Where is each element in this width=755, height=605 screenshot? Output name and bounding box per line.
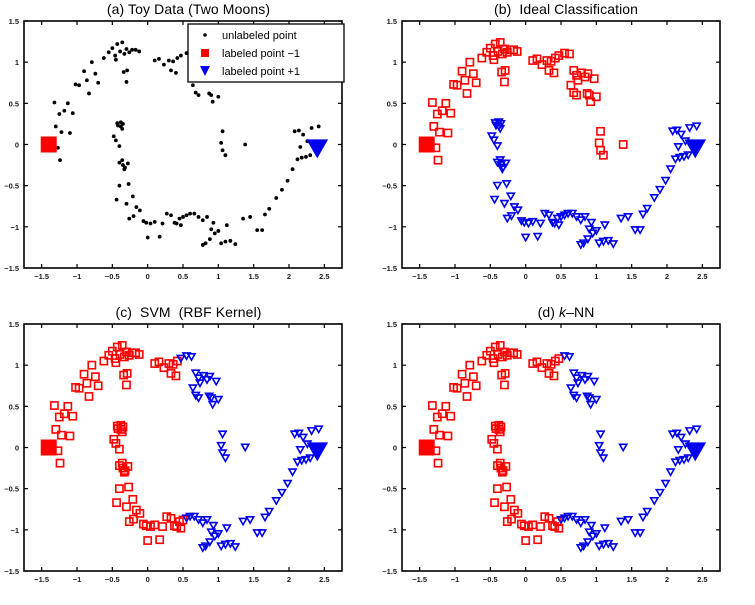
unlabeled-point-marker xyxy=(197,93,201,97)
unlabeled-point-marker xyxy=(126,162,130,166)
panel-d: (d) k–NN−1.5−1−0.500.511.522.5−1.5−1−0.5… xyxy=(378,303,755,605)
x-tick-label: 1 xyxy=(594,575,598,584)
unlabeled-point-marker xyxy=(118,144,122,148)
unlabeled-point-marker xyxy=(125,80,129,84)
class-minus1-square-marker xyxy=(522,536,529,543)
unlabeled-point-marker xyxy=(118,50,122,54)
unlabeled-point-marker xyxy=(228,239,232,243)
x-tick-label: −0.5 xyxy=(105,272,120,281)
unlabeled-point-marker xyxy=(158,235,162,239)
data-points-group xyxy=(428,341,699,550)
class-plus1-triangle-marker xyxy=(507,193,514,199)
class-minus1-square-marker xyxy=(428,99,435,106)
class-plus1-triangle-marker xyxy=(686,427,693,433)
unlabeled-point-marker xyxy=(221,148,225,152)
class-plus1-triangle-marker xyxy=(601,525,608,531)
unlabeled-point-marker xyxy=(304,155,308,159)
unlabeled-point-marker xyxy=(209,93,213,97)
class-plus1-triangle-marker xyxy=(522,234,529,240)
class-minus1-square-marker xyxy=(500,503,507,510)
class-minus1-square-marker xyxy=(490,499,497,506)
x-tick-label: 1.5 xyxy=(248,575,258,584)
class-minus1-square-marker xyxy=(463,90,470,97)
unlabeled-point-marker xyxy=(149,222,153,226)
class-plus1-triangle-marker xyxy=(259,529,266,535)
class-minus1-square-marker xyxy=(545,67,552,74)
x-tick-label: −1.5 xyxy=(34,272,49,281)
unlabeled-point-marker xyxy=(263,213,267,217)
unlabeled-point-marker xyxy=(71,111,75,115)
x-tick-label: 1 xyxy=(216,575,220,584)
class-minus1-square-marker xyxy=(95,382,102,389)
panel-a: (a) Toy Data (Two Moons)−1.5−1−0.500.511… xyxy=(0,0,377,302)
class-plus1-triangle-marker xyxy=(596,431,603,437)
class-plus1-triangle-marker xyxy=(308,427,315,433)
labeled-points-group xyxy=(419,137,705,157)
class-plus1-triangle-marker xyxy=(213,378,220,384)
unlabeled-point-marker xyxy=(317,124,321,128)
unlabeled-point-marker xyxy=(87,92,91,96)
unlabeled-point-marker xyxy=(267,207,271,211)
unlabeled-point-marker xyxy=(58,158,62,162)
unlabeled-point-marker xyxy=(219,241,223,245)
class-plus1-triangle-marker xyxy=(536,220,543,226)
unlabeled-point-marker xyxy=(85,78,89,82)
legend-entry-label: labeled point −1 xyxy=(222,48,300,60)
class-plus1-triangle-marker xyxy=(223,525,230,531)
class-plus1-triangle-marker xyxy=(300,434,307,440)
unlabeled-point-marker xyxy=(169,69,173,73)
class-plus1-triangle-marker xyxy=(624,516,631,522)
x-tick-label: 0 xyxy=(146,272,150,281)
data-points-group xyxy=(428,39,699,248)
unlabeled-point-marker xyxy=(146,236,150,240)
class-minus1-square-marker xyxy=(172,372,179,379)
class-plus1-triangle-marker xyxy=(677,434,684,440)
y-tick-label: −1 xyxy=(10,525,19,534)
unlabeled-point-marker xyxy=(243,143,247,147)
y-tick-label: 0 xyxy=(392,141,396,150)
class-plus1-triangle-marker xyxy=(666,166,673,172)
x-tick-label: −1 xyxy=(450,575,459,584)
class-minus1-square-marker xyxy=(434,157,441,164)
class-minus1-square-marker xyxy=(493,485,500,492)
class-plus1-triangle-marker xyxy=(315,426,322,432)
y-tick-label: 0.5 xyxy=(9,99,19,108)
unlabeled-point-marker xyxy=(77,83,81,87)
unlabeled-point-marker xyxy=(216,95,220,99)
unlabeled-point-marker xyxy=(181,215,185,219)
x-tick-label: 1 xyxy=(216,272,220,281)
unlabeled-point-marker xyxy=(114,58,118,62)
class-plus1-triangle-marker xyxy=(650,195,657,201)
unlabeled-point-marker xyxy=(93,72,97,76)
class-plus1-triangle-marker xyxy=(650,497,657,503)
y-tick-label: −1.5 xyxy=(4,264,19,273)
y-tick-label: 1.5 xyxy=(9,17,19,26)
y-tick-label: 1 xyxy=(392,58,396,67)
x-tick-label: 0 xyxy=(146,575,150,584)
class-minus1-square-marker xyxy=(466,59,473,66)
class-plus1-triangle-marker xyxy=(617,215,624,221)
class-minus1-square-marker xyxy=(469,373,476,380)
class-plus1-triangle-marker xyxy=(239,518,246,524)
labeled-points-group xyxy=(41,440,327,460)
class-minus1-square-marker xyxy=(92,373,99,380)
x-tick-label: 2.5 xyxy=(319,575,329,584)
legend-entry-label: labeled point +1 xyxy=(222,66,300,78)
class-plus1-triangle-marker xyxy=(232,543,239,549)
class-minus1-square-marker xyxy=(129,495,136,502)
class-minus1-square-marker xyxy=(116,485,123,492)
unlabeled-point-marker xyxy=(134,205,138,209)
unlabeled-point-marker xyxy=(233,242,237,246)
class-plus1-triangle-marker xyxy=(545,212,552,218)
x-tick-label: 0 xyxy=(523,272,527,281)
unlabeled-point-marker xyxy=(174,71,178,75)
class-plus1-triangle-marker xyxy=(493,182,500,188)
unlabeled-point-marker xyxy=(96,81,100,85)
class-minus1-square-marker xyxy=(472,382,479,389)
class-minus1-square-marker xyxy=(428,401,435,408)
class-minus1-square-marker xyxy=(545,369,552,376)
legend: unlabeled pointlabeled point −1labeled p… xyxy=(188,24,344,82)
panel-b: (b) Ideal Classification−1.5−1−0.500.511… xyxy=(378,0,755,302)
class-minus1-square-marker xyxy=(444,432,451,439)
unlabeled-point-marker xyxy=(125,47,129,51)
class-plus1-triangle-marker xyxy=(624,214,631,220)
unlabeled-point-marker xyxy=(121,122,125,126)
class-minus1-square-marker xyxy=(461,379,468,386)
x-tick-label: 1.5 xyxy=(626,272,636,281)
class-minus1-square-marker xyxy=(463,392,470,399)
class-plus1-triangle-marker xyxy=(587,220,594,226)
x-tick-label: 2.5 xyxy=(319,272,329,281)
class-plus1-triangle-marker xyxy=(572,394,579,400)
class-plus1-triangle-marker xyxy=(619,444,626,450)
legend-entry-label: unlabeled point xyxy=(222,30,297,42)
class-minus1-square-marker xyxy=(64,402,71,409)
y-tick-label: 0.5 xyxy=(386,402,396,411)
unlabeled-point-marker xyxy=(54,124,58,128)
class-minus1-square-marker xyxy=(144,536,151,543)
class-plus1-triangle-marker xyxy=(555,222,562,228)
x-tick-label: −0.5 xyxy=(105,575,120,584)
class-plus1-triangle-marker xyxy=(218,442,225,448)
unlabeled-point-marker xyxy=(144,221,148,225)
legend-dot-icon xyxy=(203,33,207,37)
x-tick-label: 1.5 xyxy=(248,272,258,281)
unlabeled-point-marker xyxy=(241,217,245,221)
x-tick-label: 1.5 xyxy=(626,575,636,584)
y-tick-label: −0.5 xyxy=(4,484,19,493)
class-plus1-triangle-marker xyxy=(636,529,643,535)
unlabeled-point-marker xyxy=(296,157,300,161)
y-tick-label: −1.5 xyxy=(382,567,397,576)
class-plus1-triangle-marker xyxy=(567,385,574,391)
class-plus1-triangle-marker xyxy=(219,431,226,437)
unlabeled-point-marker xyxy=(260,228,264,232)
unlabeled-point-marker xyxy=(60,130,64,134)
class-minus1-square-marker xyxy=(434,459,441,466)
y-tick-label: −1 xyxy=(10,223,19,232)
class-minus1-square-marker xyxy=(500,78,507,85)
class-plus1-triangle-marker xyxy=(617,518,624,524)
unlabeled-point-marker xyxy=(224,240,228,244)
class-plus1-triangle-marker xyxy=(693,123,700,129)
x-tick-label: −1.5 xyxy=(34,575,49,584)
unlabeled-point-marker xyxy=(205,215,209,219)
class-minus1-square-marker xyxy=(56,459,63,466)
unlabeled-point-marker xyxy=(113,54,117,58)
class-plus1-triangle-marker xyxy=(590,378,597,384)
unlabeled-point-marker xyxy=(131,194,135,198)
class-minus1-square-marker xyxy=(550,69,557,76)
x-tick-label: 0 xyxy=(523,575,527,584)
y-tick-label: −1.5 xyxy=(4,567,19,576)
class-minus1-square-marker xyxy=(156,536,163,543)
labeled-point-minus1-marker xyxy=(41,137,56,152)
class-plus1-triangle-marker xyxy=(587,522,594,528)
class-minus1-square-marker xyxy=(536,522,543,529)
class-plus1-triangle-marker xyxy=(289,469,296,475)
unlabeled-point-marker xyxy=(115,198,119,202)
class-minus1-square-marker xyxy=(619,141,626,148)
unlabeled-point-marker xyxy=(122,52,126,56)
x-tick-label: −1.5 xyxy=(412,272,427,281)
class-plus1-triangle-marker xyxy=(278,489,285,495)
y-tick-label: 0.5 xyxy=(386,99,396,108)
x-tick-label: 2 xyxy=(287,272,291,281)
class-minus1-square-marker xyxy=(66,432,73,439)
panel-d-plot: −1.5−1−0.500.511.522.5−1.5−1−0.500.511.5 xyxy=(378,303,755,605)
unlabeled-point-marker xyxy=(192,212,196,216)
class-minus1-square-marker xyxy=(472,79,479,86)
unlabeled-point-marker xyxy=(132,214,136,218)
class-plus1-triangle-marker xyxy=(188,353,195,359)
unlabeled-point-marker xyxy=(298,145,302,149)
unlabeled-point-marker xyxy=(211,221,215,225)
class-plus1-triangle-marker xyxy=(609,241,616,247)
unlabeled-point-marker xyxy=(122,70,126,74)
labeled-point-plus1-marker xyxy=(307,442,327,460)
labeled-point-plus1-marker xyxy=(685,442,705,460)
class-minus1-square-marker xyxy=(80,370,87,377)
unlabeled-point-marker xyxy=(248,215,252,219)
unlabeled-point-marker xyxy=(179,223,183,227)
unlabeled-point-marker xyxy=(297,129,301,133)
unlabeled-point-marker xyxy=(175,222,179,226)
unlabeled-point-marker xyxy=(171,59,175,63)
unlabeled-point-marker xyxy=(274,196,278,200)
class-minus1-square-marker xyxy=(167,369,174,376)
unlabeled-point-marker xyxy=(308,153,312,157)
class-plus1-triangle-marker xyxy=(677,131,684,137)
unlabeled-point-marker xyxy=(300,156,304,160)
class-plus1-triangle-marker xyxy=(490,196,497,202)
class-minus1-square-marker xyxy=(469,70,476,77)
class-plus1-triangle-marker xyxy=(686,125,693,131)
class-plus1-triangle-marker xyxy=(656,187,663,193)
class-plus1-triangle-marker xyxy=(502,181,509,187)
unlabeled-point-marker xyxy=(125,69,129,73)
class-minus1-square-marker xyxy=(159,522,166,529)
x-tick-label: 2 xyxy=(287,575,291,584)
y-tick-label: 0 xyxy=(392,443,396,452)
plot-frame xyxy=(402,324,720,571)
unlabeled-point-marker xyxy=(90,60,94,64)
class-minus1-square-marker xyxy=(502,483,509,490)
class-plus1-triangle-marker xyxy=(661,480,668,486)
class-plus1-triangle-marker xyxy=(261,514,268,520)
unlabeled-point-marker xyxy=(107,50,111,54)
unlabeled-point-marker xyxy=(115,121,119,125)
class-minus1-square-marker xyxy=(466,361,473,368)
class-minus1-square-marker xyxy=(500,381,507,388)
unlabeled-point-marker xyxy=(110,46,114,50)
class-minus1-square-marker xyxy=(444,129,451,136)
unlabeled-point-marker xyxy=(112,134,116,138)
unlabeled-point-marker xyxy=(102,56,106,60)
class-minus1-square-marker xyxy=(85,392,92,399)
y-tick-label: −0.5 xyxy=(382,182,397,191)
unlabeled-point-marker xyxy=(138,208,142,212)
unlabeled-point-marker xyxy=(213,232,217,236)
x-tick-label: −1 xyxy=(73,272,82,281)
panel-a-plot: −1.5−1−0.500.511.522.5−1.5−1−0.500.511.5… xyxy=(0,0,377,302)
class-minus1-square-marker xyxy=(507,495,514,502)
unlabeled-point-marker xyxy=(127,182,131,186)
class-minus1-square-marker xyxy=(123,381,130,388)
y-tick-label: 0 xyxy=(15,141,19,150)
unlabeled-point-marker xyxy=(216,229,220,233)
unlabeled-point-marker xyxy=(125,202,129,206)
plot-frame xyxy=(24,324,342,571)
class-plus1-triangle-marker xyxy=(195,394,202,400)
class-minus1-square-marker xyxy=(458,68,465,75)
class-plus1-triangle-marker xyxy=(222,455,229,461)
unlabeled-point-marker xyxy=(255,228,259,232)
x-tick-label: −1.5 xyxy=(412,575,427,584)
unlabeled-point-marker xyxy=(62,109,66,113)
class-minus1-square-marker xyxy=(534,536,541,543)
x-tick-label: −1 xyxy=(73,575,82,584)
class-plus1-triangle-marker xyxy=(587,401,594,407)
y-tick-label: −1 xyxy=(388,223,397,232)
y-tick-label: −0.5 xyxy=(4,182,19,191)
class-minus1-square-marker xyxy=(567,82,574,89)
labeled-point-minus1-marker xyxy=(419,137,434,152)
x-tick-label: 0.5 xyxy=(178,272,188,281)
unlabeled-point-marker xyxy=(118,184,122,188)
unlabeled-point-marker xyxy=(165,212,169,216)
class-plus1-triangle-marker xyxy=(595,442,602,448)
y-tick-label: 0.5 xyxy=(9,402,19,411)
class-minus1-square-marker xyxy=(51,401,58,408)
x-tick-label: 2.5 xyxy=(697,575,707,584)
unlabeled-point-marker xyxy=(57,112,61,116)
class-plus1-triangle-marker xyxy=(209,401,216,407)
class-plus1-triangle-marker xyxy=(488,133,495,139)
unlabeled-point-marker xyxy=(137,50,141,54)
y-tick-label: −0.5 xyxy=(382,484,397,493)
unlabeled-point-marker xyxy=(134,48,138,52)
x-tick-label: 2 xyxy=(664,272,668,281)
unlabeled-point-marker xyxy=(291,167,295,171)
class-minus1-square-marker xyxy=(83,379,90,386)
class-plus1-triangle-marker xyxy=(666,469,673,475)
class-plus1-triangle-marker xyxy=(693,426,700,432)
class-plus1-triangle-marker xyxy=(242,444,249,450)
unlabeled-point-marker xyxy=(82,69,86,73)
y-tick-label: 1.5 xyxy=(386,17,396,26)
unlabeled-point-marker xyxy=(115,42,119,46)
class-plus1-triangle-marker xyxy=(534,234,541,240)
x-tick-label: 2.5 xyxy=(697,272,707,281)
panel-b-plot: −1.5−1−0.500.511.522.5−1.5−1−0.500.511.5 xyxy=(378,0,755,302)
labeled-point-plus1-marker xyxy=(685,140,705,158)
unlabeled-point-marker xyxy=(201,218,205,222)
unlabeled-point-marker xyxy=(204,241,208,245)
x-tick-label: 1 xyxy=(594,272,598,281)
x-tick-label: −0.5 xyxy=(482,272,497,281)
x-tick-label: 0.5 xyxy=(555,575,565,584)
class-minus1-square-marker xyxy=(442,402,449,409)
unlabeled-point-marker xyxy=(301,133,305,137)
class-plus1-triangle-marker xyxy=(500,201,507,207)
x-tick-label: −0.5 xyxy=(482,575,497,584)
unlabeled-point-marker xyxy=(225,223,229,227)
class-plus1-triangle-marker xyxy=(273,497,280,503)
class-minus1-square-marker xyxy=(125,483,132,490)
class-plus1-triangle-marker xyxy=(284,480,291,486)
unlabeled-point-marker xyxy=(224,153,228,157)
class-minus1-square-marker xyxy=(550,372,557,379)
class-minus1-square-marker xyxy=(458,370,465,377)
class-plus1-triangle-marker xyxy=(565,353,572,359)
unlabeled-point-marker xyxy=(120,127,124,131)
unlabeled-point-marker xyxy=(118,161,122,165)
unlabeled-point-marker xyxy=(122,167,126,171)
unlabeled-point-marker xyxy=(286,179,290,183)
labeled-points-group xyxy=(41,137,327,157)
legend-filled-square-icon xyxy=(201,49,209,57)
x-tick-label: 0.5 xyxy=(178,575,188,584)
unlabeled-point-marker xyxy=(179,54,183,58)
class-minus1-square-marker xyxy=(88,361,95,368)
class-plus1-triangle-marker xyxy=(674,446,681,452)
class-plus1-triangle-marker xyxy=(674,144,681,150)
unlabeled-point-marker xyxy=(175,56,179,60)
unlabeled-point-marker xyxy=(197,215,201,219)
labeled-point-minus1-marker xyxy=(41,440,56,455)
unlabeled-point-marker xyxy=(127,217,131,221)
panel-c-plot: −1.5−1−0.500.511.522.5−1.5−1−0.500.511.5 xyxy=(0,303,377,605)
unlabeled-point-marker xyxy=(219,141,223,145)
class-minus1-square-marker xyxy=(461,77,468,84)
class-minus1-square-marker xyxy=(123,503,130,510)
class-plus1-triangle-marker xyxy=(599,455,606,461)
unlabeled-point-marker xyxy=(310,126,314,130)
class-plus1-triangle-marker xyxy=(656,489,663,495)
class-plus1-triangle-marker xyxy=(639,211,646,217)
unlabeled-point-marker xyxy=(153,59,157,63)
class-plus1-triangle-marker xyxy=(601,222,608,228)
unlabeled-point-marker xyxy=(130,48,134,52)
unlabeled-point-marker xyxy=(221,129,225,133)
unlabeled-point-marker xyxy=(68,131,72,135)
y-tick-label: 1 xyxy=(15,58,19,67)
